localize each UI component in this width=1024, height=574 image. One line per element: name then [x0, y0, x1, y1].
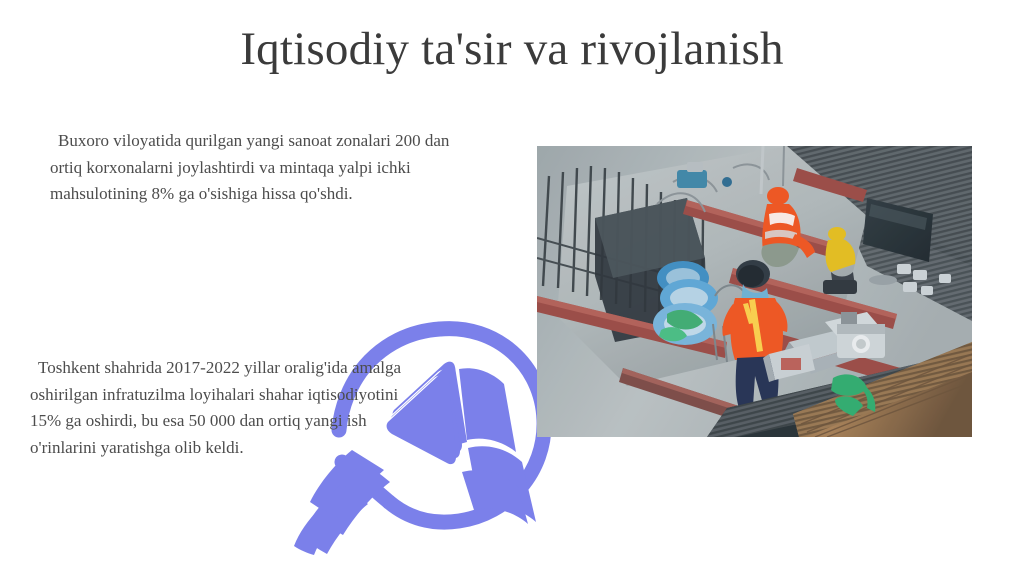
page-title: Iqtisodiy ta'sir va rivojlanish [0, 22, 1024, 76]
construction-site-photo [537, 146, 972, 437]
body-paragraph-tashkent: Toshkent shahrida 2017-2022 yillar orali… [30, 355, 430, 461]
body-paragraph-bukhara: Buxoro viloyatida qurilgan yangi sanoat … [50, 128, 470, 208]
slide: Iqtisodiy ta'sir va rivojlanish Buxoro v… [0, 0, 1024, 574]
